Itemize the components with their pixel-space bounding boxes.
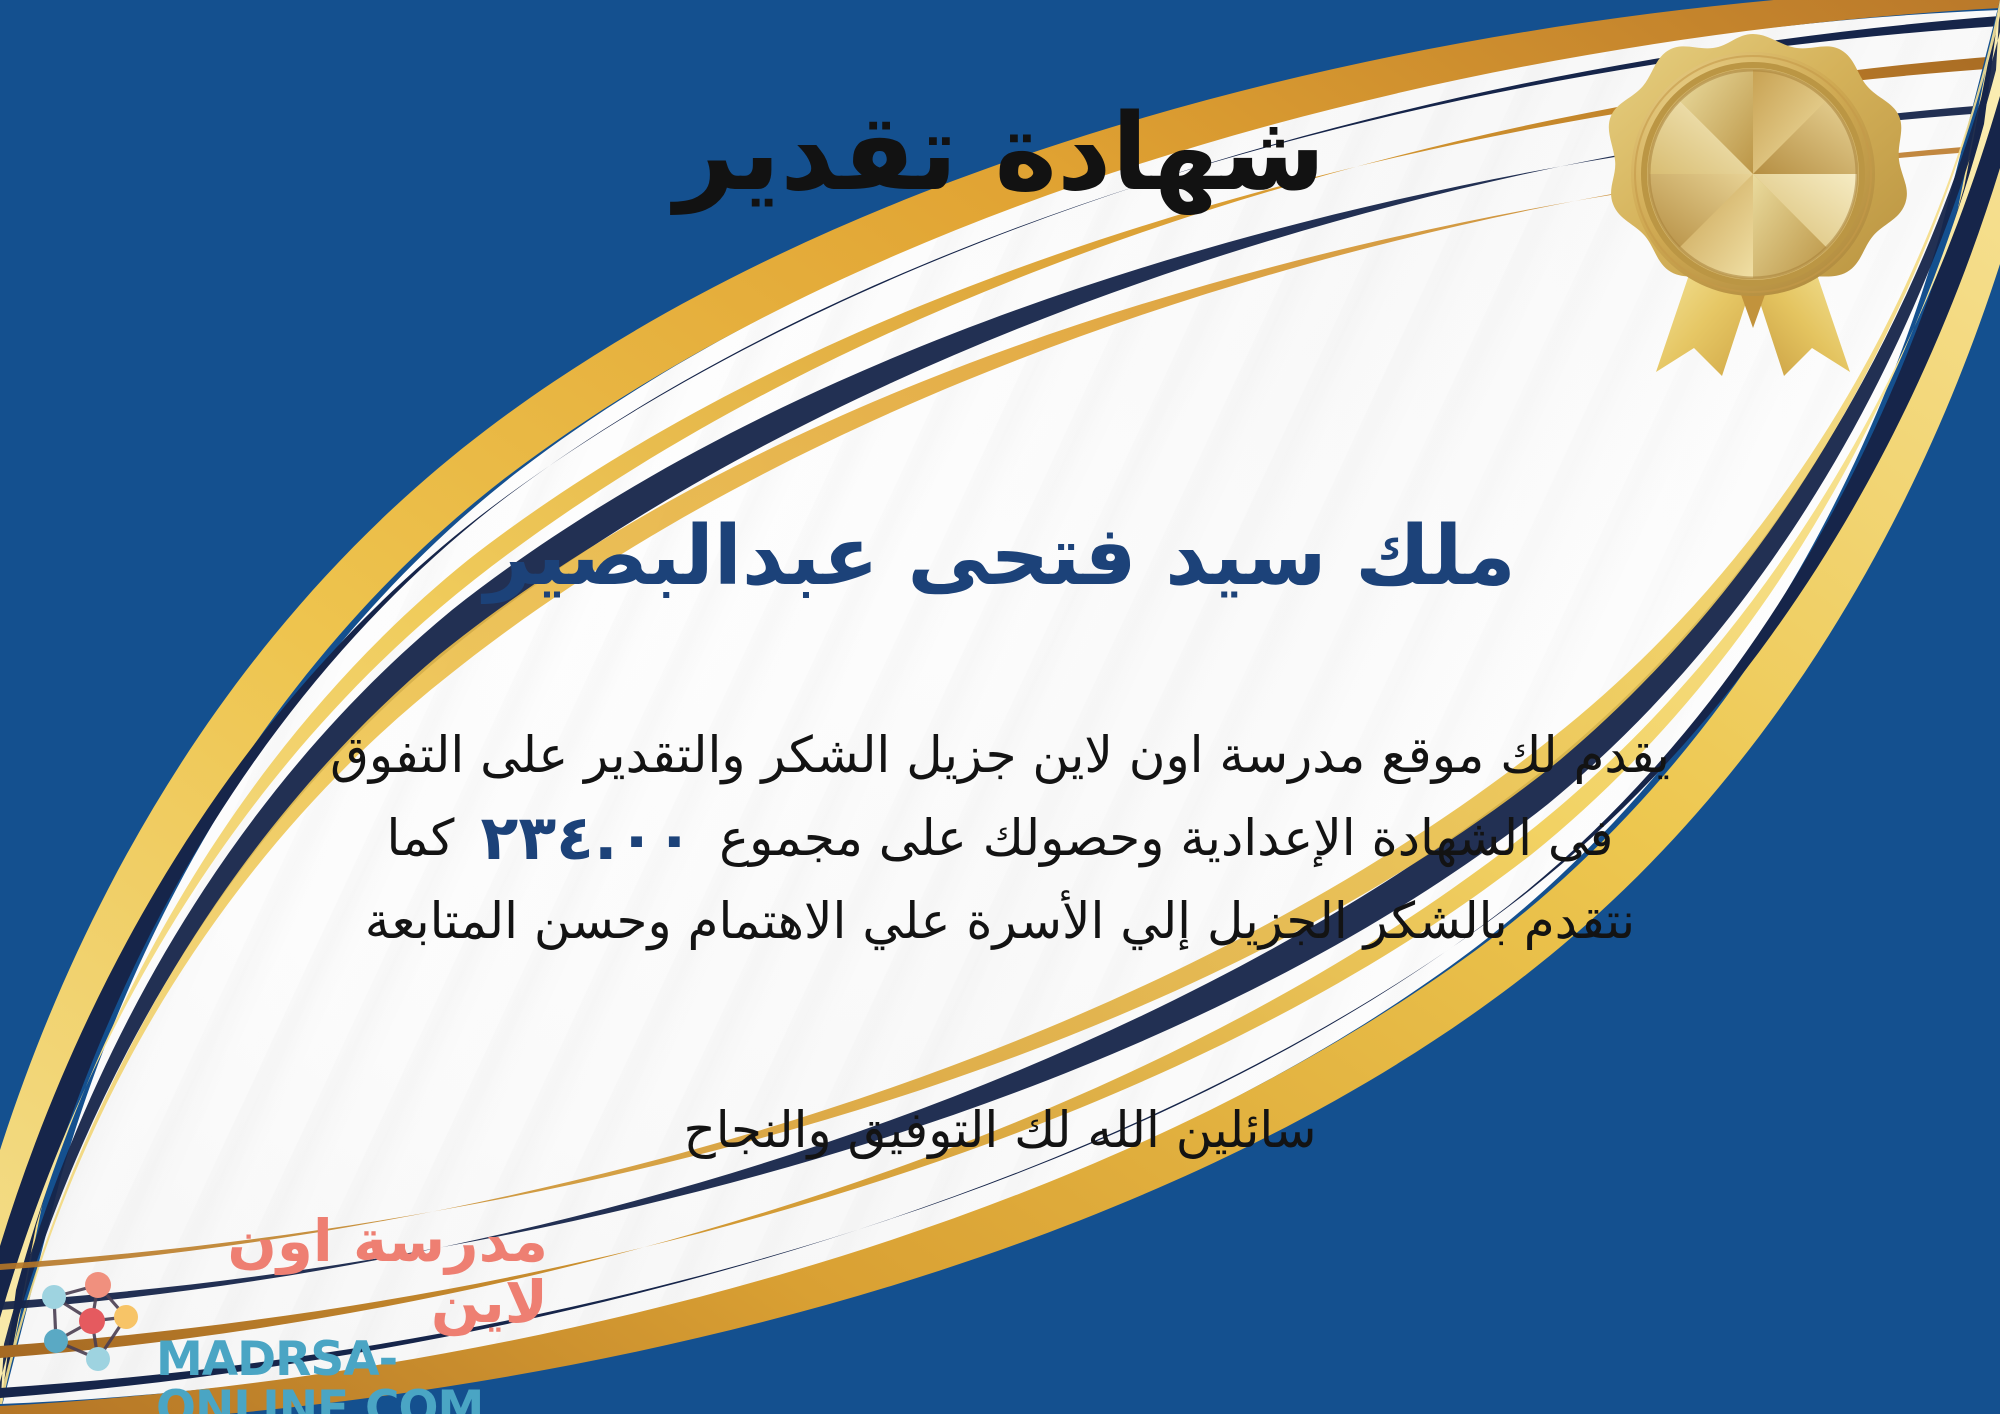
network-nodes-icon xyxy=(28,1263,146,1381)
certificate-body: يقدم لك موقع مدرسة اون لاين جزيل الشكر و… xyxy=(50,718,1950,958)
total-score-value: ٢٣٤.٠٠ xyxy=(454,792,719,884)
body-line-1: يقدم لك موقع مدرسة اون لاين جزيل الشكر و… xyxy=(50,718,1950,792)
brand-text: مدرسة اون لاين MADRSA-ONLINE.COM xyxy=(156,1211,548,1414)
certificate-content: شهادة تقدير ملك سيد فتحى عبدالبصير يقدم … xyxy=(0,0,2000,1414)
brand-arabic-name: مدرسة اون لاين xyxy=(156,1211,548,1333)
body-line-2: فى الشهادة الإعدادية وحصولك على مجموع٢٣٤… xyxy=(50,792,1950,884)
brand-logo[interactable]: مدرسة اون لاين MADRSA-ONLINE.COM xyxy=(28,1252,548,1392)
recipient-name: ملك سيد فتحى عبدالبصير xyxy=(0,510,2000,604)
brand-website: MADRSA-ONLINE.COM xyxy=(156,1335,548,1414)
body-line-2-prefix: فى الشهادة الإعدادية وحصولك على مجموع xyxy=(719,809,1613,867)
certificate-canvas: شهادة تقدير ملك سيد فتحى عبدالبصير يقدم … xyxy=(0,0,2000,1414)
body-line-2-suffix: كما xyxy=(387,809,455,867)
body-line-3: نتقدم بالشكر الجزيل إلي الأسرة علي الاهت… xyxy=(50,884,1950,958)
closing-wish: سائلين الله لك التوفيق والنجاح xyxy=(0,1095,2000,1165)
certificate-title: شهادة تقدير xyxy=(0,95,2000,212)
